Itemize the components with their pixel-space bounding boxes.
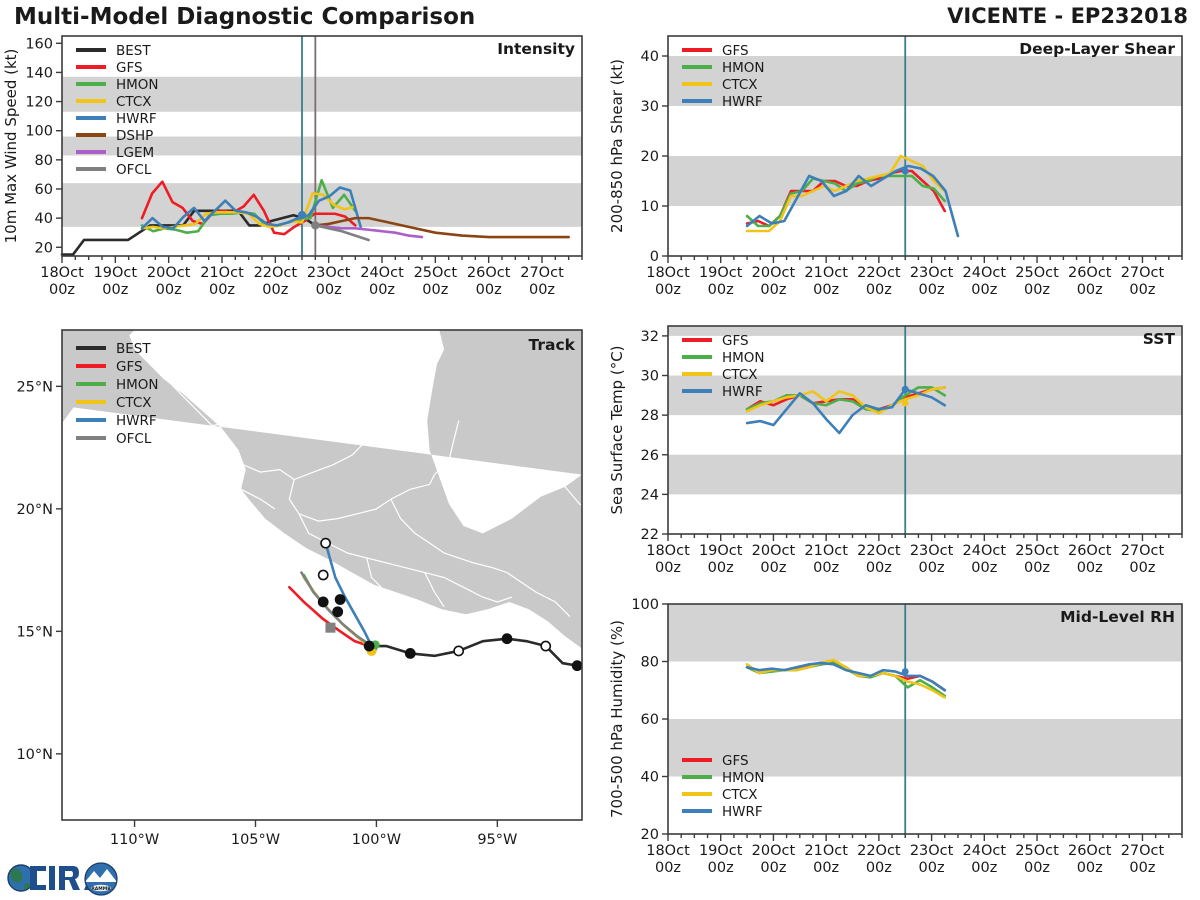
legend-label-gfs: GFS bbox=[116, 60, 143, 76]
x-tick-sublabel: 00z bbox=[919, 860, 945, 876]
panel-title-track: Track bbox=[529, 336, 576, 354]
x-tick-label: 20Oct bbox=[752, 265, 796, 281]
y-tick-label: 26 bbox=[641, 448, 659, 464]
forecast-track-marker bbox=[321, 539, 330, 548]
x-tick-sublabel: 00z bbox=[708, 560, 734, 576]
y-axis-label: 700-500 hPa Humidity (%) bbox=[608, 620, 626, 818]
best-track-marker bbox=[365, 641, 374, 650]
x-tick-label: 23Oct bbox=[910, 265, 954, 281]
x-tick-sublabel: 00z bbox=[422, 282, 448, 298]
forecast-track-marker bbox=[319, 597, 328, 606]
legend-label-hmon: HMON bbox=[116, 377, 159, 393]
lat-tick-label: 20°N bbox=[16, 502, 53, 518]
legend-label-hmon: HMON bbox=[722, 60, 765, 76]
x-tick-sublabel: 00z bbox=[262, 282, 288, 298]
x-tick-sublabel: 00z bbox=[813, 560, 839, 576]
legend-label-gfs: GFS bbox=[116, 359, 143, 375]
state-border bbox=[304, 330, 362, 367]
x-tick-label: 18Oct bbox=[646, 843, 690, 859]
x-tick-label: 22Oct bbox=[857, 265, 901, 281]
forecast-track-marker bbox=[336, 595, 345, 604]
lat-tick-label: 10°N bbox=[16, 747, 53, 763]
x-tick-sublabel: 00z bbox=[813, 282, 839, 298]
y-tick-label: 28 bbox=[641, 408, 659, 424]
panel-title-sst: SST bbox=[1143, 330, 1176, 348]
page-title: Multi-Model Diagnostic Comparison bbox=[14, 4, 475, 30]
x-tick-sublabel: 00z bbox=[529, 282, 555, 298]
x-tick-label: 22Oct bbox=[857, 843, 901, 859]
legend-label-hwrf: HWRF bbox=[116, 413, 157, 429]
x-tick-label: 26Oct bbox=[1068, 843, 1112, 859]
x-tick-sublabel: 00z bbox=[760, 560, 786, 576]
x-tick-label: 19Oct bbox=[699, 543, 743, 559]
x-tick-sublabel: 00z bbox=[1129, 860, 1155, 876]
x-tick-label: 27Oct bbox=[1121, 543, 1165, 559]
legend-label-hmon: HMON bbox=[116, 77, 159, 93]
y-tick-label: 100 bbox=[25, 124, 53, 140]
svg-text:RAMMB: RAMMB bbox=[91, 886, 111, 892]
legend-label-lgem: LGEM bbox=[116, 145, 154, 161]
x-tick-sublabel: 00z bbox=[1129, 282, 1155, 298]
x-tick-sublabel: 00z bbox=[209, 282, 235, 298]
y-tick-label: 40 bbox=[35, 211, 53, 227]
x-tick-sublabel: 00z bbox=[708, 860, 734, 876]
legend-label-hmon: HMON bbox=[722, 770, 765, 786]
best-track-marker bbox=[454, 646, 463, 655]
x-tick-label: 24Oct bbox=[963, 843, 1007, 859]
x-tick-sublabel: 00z bbox=[369, 282, 395, 298]
ofcl-marker bbox=[325, 623, 335, 633]
y-tick-label: 30 bbox=[641, 369, 659, 385]
x-tick-sublabel: 00z bbox=[971, 560, 997, 576]
y-tick-label: 120 bbox=[25, 95, 53, 111]
x-tick-label: 18Oct bbox=[646, 543, 690, 559]
y-tick-label: 80 bbox=[35, 153, 53, 169]
x-tick-sublabel: 00z bbox=[760, 860, 786, 876]
x-tick-label: 23Oct bbox=[910, 543, 954, 559]
x-tick-sublabel: 00z bbox=[919, 282, 945, 298]
legend-label-hwrf: HWRF bbox=[116, 111, 157, 127]
best-track-marker bbox=[541, 641, 550, 650]
legend-label-hwrf: HWRF bbox=[722, 384, 763, 400]
cira-logo: RAMMB bbox=[4, 856, 124, 900]
y-tick-label: 40 bbox=[641, 49, 659, 65]
y-tick-label: 10 bbox=[641, 199, 659, 215]
x-tick-sublabel: 00z bbox=[476, 282, 502, 298]
x-tick-label: 25Oct bbox=[1015, 265, 1059, 281]
x-tick-sublabel: 00z bbox=[760, 282, 786, 298]
legend-label-ofcl: OFCL bbox=[116, 162, 152, 178]
y-tick-label: 40 bbox=[641, 770, 659, 786]
x-tick-label: 26Oct bbox=[467, 265, 511, 281]
legend-label-hmon: HMON bbox=[722, 350, 765, 366]
y-tick-label: 20 bbox=[641, 149, 659, 165]
lon-tick-label: 110°W bbox=[110, 832, 159, 848]
x-tick-sublabel: 00z bbox=[971, 282, 997, 298]
x-tick-label: 24Oct bbox=[360, 265, 404, 281]
x-tick-label: 18Oct bbox=[40, 265, 84, 281]
y-axis-label: 10m Max Wind Speed (kt) bbox=[2, 49, 20, 244]
x-tick-label: 27Oct bbox=[1121, 265, 1165, 281]
x-tick-label: 26Oct bbox=[1068, 265, 1112, 281]
legend-label-ctcx: CTCX bbox=[116, 395, 152, 411]
legend-label-hwrf: HWRF bbox=[722, 804, 763, 820]
x-tick-sublabel: 00z bbox=[1129, 560, 1155, 576]
x-tick-label: 21Oct bbox=[804, 265, 848, 281]
panel-mid-level-rh: 2040608010018Oct00z19Oct00z20Oct00z21Oct… bbox=[600, 596, 1200, 896]
x-tick-sublabel: 00z bbox=[971, 860, 997, 876]
x-tick-label: 19Oct bbox=[699, 265, 743, 281]
x-tick-sublabel: 00z bbox=[919, 560, 945, 576]
y-tick-label: 60 bbox=[641, 712, 659, 728]
x-tick-label: 20Oct bbox=[147, 265, 191, 281]
x-tick-label: 27Oct bbox=[520, 265, 564, 281]
x-tick-label: 20Oct bbox=[752, 843, 796, 859]
panel-title-rh: Mid-Level RH bbox=[1060, 608, 1175, 626]
best-track-marker bbox=[406, 649, 415, 658]
x-tick-sublabel: 00z bbox=[316, 282, 342, 298]
storm-id-title: VICENTE - EP232018 bbox=[947, 4, 1188, 28]
lat-tick-label: 25°N bbox=[16, 379, 53, 395]
y-tick-label: 24 bbox=[641, 487, 659, 503]
x-tick-sublabel: 00z bbox=[1077, 560, 1103, 576]
legend-label-ofcl: OFCL bbox=[116, 431, 152, 447]
legend-label-hwrf: HWRF bbox=[722, 94, 763, 110]
x-tick-sublabel: 00z bbox=[49, 282, 75, 298]
x-tick-sublabel: 00z bbox=[708, 282, 734, 298]
x-tick-sublabel: 00z bbox=[655, 860, 681, 876]
x-tick-sublabel: 00z bbox=[1077, 860, 1103, 876]
state-border bbox=[212, 330, 304, 426]
x-tick-sublabel: 00z bbox=[866, 860, 892, 876]
y-tick-label: 20 bbox=[35, 240, 53, 256]
legend-label-gfs: GFS bbox=[722, 333, 749, 349]
legend-label-best: BEST bbox=[116, 43, 151, 59]
legend-label-ctcx: CTCX bbox=[722, 77, 758, 93]
x-tick-label: 20Oct bbox=[752, 543, 796, 559]
y-tick-label: 0 bbox=[650, 249, 659, 265]
legend-label-gfs: GFS bbox=[722, 753, 749, 769]
legend-label-ctcx: CTCX bbox=[116, 94, 152, 110]
x-tick-sublabel: 00z bbox=[866, 560, 892, 576]
x-tick-sublabel: 00z bbox=[1077, 282, 1103, 298]
best-track-marker bbox=[573, 661, 582, 670]
legend-label-ctcx: CTCX bbox=[722, 367, 758, 383]
x-tick-label: 24Oct bbox=[963, 265, 1007, 281]
x-tick-sublabel: 00z bbox=[1024, 560, 1050, 576]
series-line-ctcx bbox=[747, 660, 945, 697]
x-tick-label: 23Oct bbox=[307, 265, 351, 281]
y-axis-label: Sea Surface Temp (°C) bbox=[608, 345, 626, 514]
y-tick-label: 80 bbox=[641, 655, 659, 671]
x-tick-label: 22Oct bbox=[857, 543, 901, 559]
x-tick-label: 19Oct bbox=[699, 843, 743, 859]
best-track-marker bbox=[502, 634, 511, 643]
lon-tick-label: 105°W bbox=[231, 832, 280, 848]
x-tick-label: 21Oct bbox=[804, 543, 848, 559]
panel-intensity: 2040608010012014016018Oct00z19Oct00z20Oc… bbox=[0, 28, 600, 318]
panel-title-intensity: Intensity bbox=[497, 40, 575, 58]
x-tick-label: 21Oct bbox=[200, 265, 244, 281]
y-tick-label: 160 bbox=[25, 36, 53, 52]
y-tick-label: 60 bbox=[35, 182, 53, 198]
x-tick-sublabel: 00z bbox=[813, 860, 839, 876]
x-tick-label: 27Oct bbox=[1121, 843, 1165, 859]
x-tick-label: 25Oct bbox=[414, 265, 458, 281]
forecast-track-marker bbox=[333, 607, 342, 616]
y-tick-label: 30 bbox=[641, 99, 659, 115]
x-tick-label: 24Oct bbox=[963, 543, 1007, 559]
x-tick-label: 23Oct bbox=[910, 843, 954, 859]
panel-track: 10°N15°N20°N25°N110°W105°W100°W95°WTrack… bbox=[0, 318, 600, 878]
x-tick-sublabel: 00z bbox=[655, 282, 681, 298]
x-tick-label: 19Oct bbox=[94, 265, 138, 281]
x-tick-sublabel: 00z bbox=[156, 282, 182, 298]
y-tick-label: 100 bbox=[631, 597, 659, 613]
lon-tick-label: 100°W bbox=[352, 832, 401, 848]
forecast-track-marker bbox=[319, 570, 328, 579]
x-tick-sublabel: 00z bbox=[866, 282, 892, 298]
y-tick-label: 32 bbox=[641, 329, 659, 345]
x-tick-label: 25Oct bbox=[1015, 543, 1059, 559]
x-tick-sublabel: 00z bbox=[102, 282, 128, 298]
y-axis-label: 200-850 hPa Shear (kt) bbox=[608, 59, 626, 233]
y-tick-label: 22 bbox=[641, 527, 659, 543]
legend-label-best: BEST bbox=[116, 341, 151, 357]
panel-sst: 22242628303218Oct00z19Oct00z20Oct00z21Oc… bbox=[600, 318, 1200, 596]
lat-tick-label: 15°N bbox=[16, 624, 53, 640]
y-tick-label: 140 bbox=[25, 65, 53, 81]
lon-tick-label: 95°W bbox=[477, 832, 517, 848]
x-tick-label: 21Oct bbox=[804, 843, 848, 859]
y-tick-label: 20 bbox=[641, 827, 659, 843]
panel-deep-layer-shear: 01020304018Oct00z19Oct00z20Oct00z21Oct00… bbox=[600, 28, 1200, 318]
x-tick-label: 22Oct bbox=[254, 265, 298, 281]
x-tick-sublabel: 00z bbox=[1024, 282, 1050, 298]
legend-label-gfs: GFS bbox=[722, 43, 749, 59]
x-tick-label: 18Oct bbox=[646, 265, 690, 281]
x-tick-label: 26Oct bbox=[1068, 543, 1112, 559]
legend-label-dshp: DSHP bbox=[116, 128, 153, 144]
x-tick-sublabel: 00z bbox=[655, 560, 681, 576]
panel-title-shear: Deep-Layer Shear bbox=[1019, 40, 1175, 58]
x-tick-label: 25Oct bbox=[1015, 843, 1059, 859]
legend-label-ctcx: CTCX bbox=[722, 787, 758, 803]
x-tick-sublabel: 00z bbox=[1024, 860, 1050, 876]
